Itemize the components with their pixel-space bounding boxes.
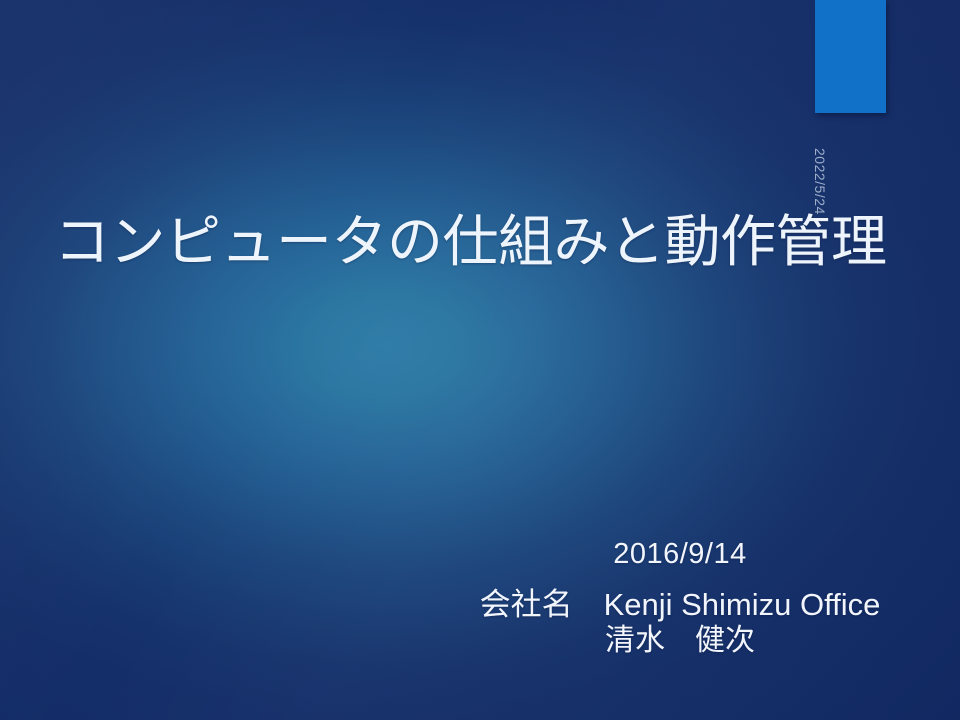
vertical-date-stamp: 2022/5/24 <box>812 148 828 215</box>
subtitle-presenter-name: 清水 健次 <box>470 625 890 657</box>
slide-title: コンピュータの仕組みと動作管理 <box>54 211 914 274</box>
subtitle-date: 2016/9/14 <box>470 540 890 569</box>
accent-rectangle <box>815 0 886 113</box>
slide-subtitle-block: 2016/9/14 会社名 Kenji Shimizu Office 清水 健次 <box>470 540 890 656</box>
subtitle-company: 会社名 Kenji Shimizu Office <box>470 589 890 622</box>
presentation-title-slide: 2022/5/24 コンピュータの仕組みと動作管理 2016/9/14 会社名 … <box>0 0 960 720</box>
